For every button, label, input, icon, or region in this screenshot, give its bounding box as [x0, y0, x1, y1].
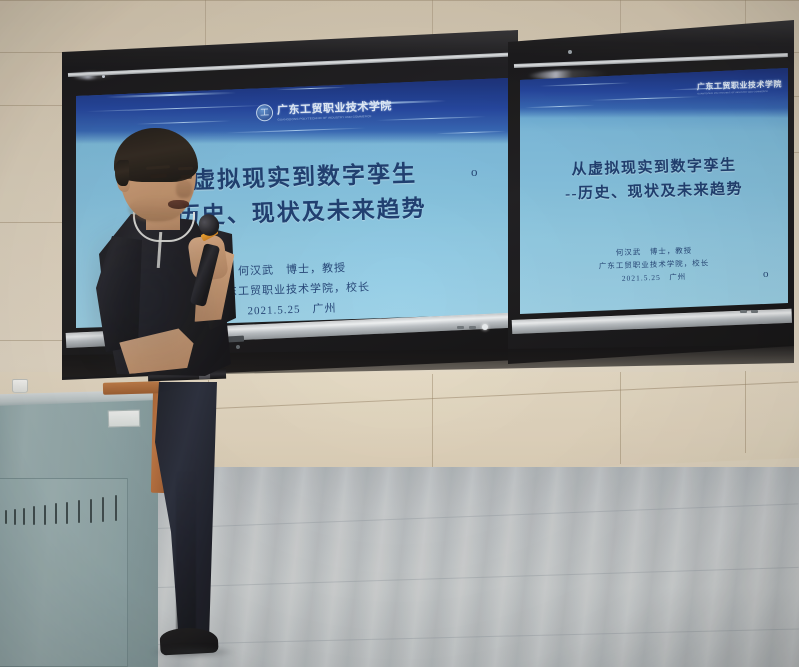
slide-stray-mark: o — [471, 164, 478, 180]
speaker-trousers-shadow — [176, 470, 196, 645]
photo-scene: 工 广东工贸职业技术学院 GUANGDONG POLYTECHNIC OF IN… — [0, 0, 799, 667]
header-streak — [226, 128, 366, 134]
header-streak — [590, 96, 700, 101]
display-indicator-led — [568, 50, 572, 54]
display-port — [457, 326, 464, 329]
podium-vent-slot — [115, 495, 117, 521]
speaker-eye — [181, 175, 192, 179]
podium-vent-slot — [5, 510, 7, 524]
podium-vent-slot — [78, 500, 80, 523]
university-logo: 广东工贸职业技术学院 GUANGDONG POLYTECHNIC OF INDU… — [697, 79, 782, 96]
slide-stray-mark: o — [763, 268, 769, 280]
podium-vent-slot — [33, 506, 35, 525]
slide-title-line2: --历史、现状及未来趋势 — [520, 176, 788, 204]
wall-seam — [0, 222, 64, 223]
podium-vent-slot — [23, 508, 25, 525]
wall-seam — [0, 105, 64, 106]
panel-seam — [432, 374, 433, 479]
wall-seam — [0, 0, 799, 1]
panel-seam — [620, 372, 621, 464]
podium-vent-slot — [66, 502, 68, 524]
display-port — [740, 310, 747, 313]
university-seal-icon: 工 — [256, 103, 274, 121]
podium-vent-slot — [44, 505, 46, 525]
display-port — [469, 326, 476, 329]
header-streak — [136, 120, 231, 124]
panel-seam — [745, 371, 746, 453]
speaker-nose — [176, 180, 192, 198]
display-indicator-led — [102, 75, 105, 78]
header-streak — [525, 105, 595, 108]
podium-door[interactable] — [0, 478, 128, 667]
wall-seam — [0, 340, 64, 341]
header-streak — [540, 82, 630, 86]
display-power-led — [482, 324, 488, 330]
podium-vent-slot — [14, 509, 16, 525]
header-streak — [376, 116, 486, 121]
speaker-eyebrow — [178, 167, 193, 171]
podium-vent-slot — [102, 497, 104, 522]
display-port — [751, 310, 758, 313]
podium-asset-label — [108, 410, 140, 428]
header-streak — [276, 87, 346, 90]
speaker-sideburn — [115, 160, 129, 186]
header-streak — [86, 105, 266, 112]
speaker-wall-shadow — [88, 210, 238, 390]
header-streak — [436, 131, 506, 134]
paper-cup[interactable] — [12, 379, 28, 393]
podium-vent-slot — [55, 503, 57, 524]
podium-vent-slot — [90, 499, 92, 523]
speaker-shoe-shadow — [150, 646, 236, 658]
right-display-screen[interactable]: 广东工贸职业技术学院 GUANGDONG POLYTECHNIC OF INDU… — [520, 68, 788, 314]
